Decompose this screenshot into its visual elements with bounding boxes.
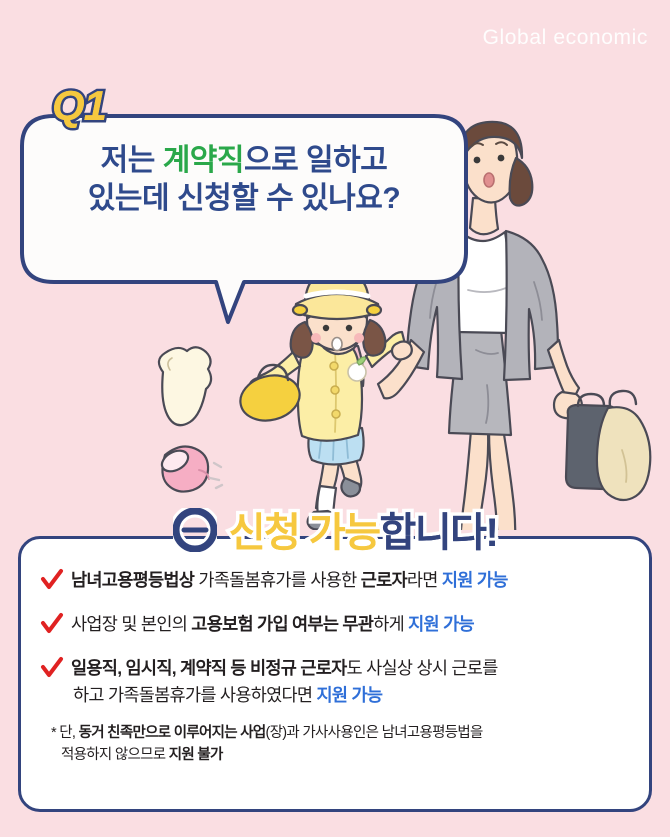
text-segment: (장)과 가사사용인은 남녀고용평등법을 <box>266 725 483 741</box>
text-segment: 동거 친족만으로 이루어지는 사업 <box>79 725 266 741</box>
text-segment: 하고 가족돌봄휴가를 사용하였다면 <box>73 685 317 705</box>
text-segment: 지원 가능 <box>442 570 508 590</box>
text-segment: 지원 가능 <box>317 685 383 705</box>
answer-bullet-text: 일용직, 임시직, 계약직 등 비정규 근로자도 사실상 상시 근로를하고 가족… <box>71 655 631 709</box>
text-segment: 일용직, 임시직, 계약직 등 비정규 근로자 <box>71 658 347 678</box>
brand-logo: Global economic <box>483 26 648 50</box>
circle-minus-icon <box>173 508 217 562</box>
check-icon <box>37 568 67 597</box>
text-segment: 라면 <box>407 570 442 590</box>
answer-bullet: 사업장 및 본인의 고용보험 가입 여부는 무관하게 지원 가능 <box>37 611 631 641</box>
text-segment: 가족돌봄휴가를 사용한 <box>198 570 360 590</box>
yellow-bag <box>236 365 305 427</box>
question-line-2: 있는데 신청할 수 있나요? <box>18 180 470 218</box>
spilled-cup <box>158 446 222 491</box>
answer-title-navy-o: 합니다! <box>380 511 498 555</box>
check-icon <box>37 656 67 685</box>
text-segment: 지원 가능 <box>408 614 474 634</box>
answer-bullet: 일용직, 임시직, 계약직 등 비정규 근로자도 사실상 상시 근로를하고 가족… <box>37 655 631 709</box>
question-speech-bubble: 저는 계약직으로 일하고 있는데 신청할 수 있나요? <box>18 112 470 327</box>
question-line1-a: 저는 <box>101 144 163 177</box>
answer-bullet-text: 남녀고용평등법상 가족돌봄휴가를 사용한 근로자라면 지원 가능 <box>71 567 631 594</box>
answer-bullet: 남녀고용평등법상 가족돌봄휴가를 사용한 근로자라면 지원 가능 <box>37 567 631 597</box>
text-segment: 사업장 및 본인의 <box>71 614 191 634</box>
text-segment: 근로자 <box>361 570 407 590</box>
question-line1-b: 으로 일하고 <box>244 144 387 177</box>
bread-slice <box>159 347 211 425</box>
text-segment: 적용하지 않으므로 <box>61 747 169 763</box>
infographic-canvas: Global economic 저는 계약직으로 일하고 있는데 신청할 수 있… <box>0 0 670 837</box>
text-segment: 남녀고용평등법상 <box>71 570 198 590</box>
text-segment: 하게 <box>373 614 408 634</box>
answer-footnote: * 단, 동거 친족만으로 이루어지는 사업(장)과 가사사용인은 남녀고용평등… <box>37 723 631 767</box>
question-highlight: 계약직 <box>163 144 244 177</box>
answer-title-outline: 신청 가능합니다! <box>0 500 670 562</box>
text-segment: * 단, <box>51 725 79 741</box>
answer-card: 남녀고용평등법상 가족돌봄휴가를 사용한 근로자라면 지원 가능사업장 및 본인… <box>18 536 652 812</box>
answer-bullet-text: 사업장 및 본인의 고용보험 가입 여부는 무관하게 지원 가능 <box>71 611 631 638</box>
question-text: 저는 계약직으로 일하고 있는데 신청할 수 있나요? <box>18 142 470 217</box>
text-segment: 고용보험 가입 여부는 무관 <box>191 614 373 634</box>
question-number-badge: Q1 <box>52 82 106 130</box>
text-segment: 도 사실상 상시 근로를 <box>347 658 498 678</box>
text-segment: 지원 불가 <box>169 747 223 763</box>
answer-bullet-list: 남녀고용평등법상 가족돌봄휴가를 사용한 근로자라면 지원 가능사업장 및 본인… <box>37 567 631 709</box>
question-line-1: 저는 계약직으로 일하고 <box>18 142 470 180</box>
answer-title-yellow-o: 신청 가능 <box>229 511 380 555</box>
check-icon <box>37 612 67 641</box>
